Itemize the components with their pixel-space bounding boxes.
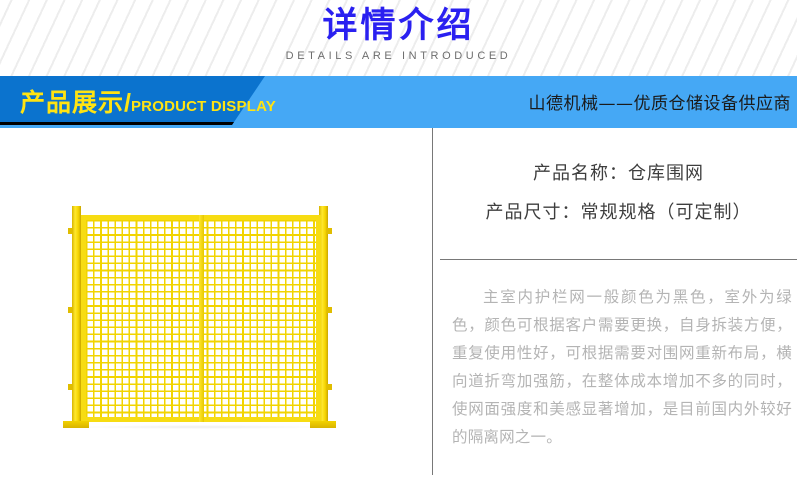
product-display-label-cn: 产品展示 bbox=[20, 88, 124, 117]
post-bracket-icon bbox=[327, 228, 332, 234]
product-display-separator: / bbox=[124, 89, 131, 117]
product-name-line: 产品名称：仓库围网 bbox=[440, 154, 797, 193]
product-description: 主室内护栏网一般颜色为黑色，室外为绿色，颜色可根据客户需要更换，自身拆装方便，重… bbox=[452, 283, 792, 451]
post-bracket-icon bbox=[327, 384, 332, 390]
product-display-bar: 产品展示/PRODUCT DISPLAY 山德机械——优质仓储设备供应商 bbox=[0, 76, 797, 128]
fence-illustration bbox=[61, 206, 339, 446]
post-bracket-icon bbox=[68, 307, 73, 313]
fence-post-left bbox=[72, 206, 81, 424]
product-photo bbox=[0, 128, 432, 503]
header-title-group: 详情介绍 DETAILS ARE INTRODUCED bbox=[0, 6, 797, 64]
page-subtitle: DETAILS ARE INTRODUCED bbox=[0, 48, 797, 64]
content-area: 产品名称：仓库围网 产品尺寸：常规规格（可定制） 主室内护栏网一般颜色为黑色，室… bbox=[0, 128, 797, 503]
fence-center-rail bbox=[199, 215, 204, 422]
product-size-line: 产品尺寸：常规规格（可定制） bbox=[440, 193, 797, 232]
post-bracket-icon bbox=[327, 307, 332, 313]
post-bracket-icon bbox=[68, 384, 73, 390]
product-display-label-en: PRODUCT DISPLAY bbox=[131, 98, 276, 115]
post-bracket-icon bbox=[68, 228, 73, 234]
company-slogan: 山德机械——优质仓储设备供应商 bbox=[529, 89, 792, 114]
product-display-tag-label: 产品展示/PRODUCT DISPLAY bbox=[20, 83, 276, 119]
product-spec-list: 产品名称：仓库围网 产品尺寸：常规规格（可定制） bbox=[440, 154, 797, 232]
vertical-divider bbox=[432, 128, 433, 475]
fence-shadow bbox=[71, 425, 331, 429]
page-title: 详情介绍 bbox=[0, 6, 797, 46]
horizontal-divider bbox=[440, 259, 797, 260]
page-header-banner: 详情介绍 DETAILS ARE INTRODUCED bbox=[0, 0, 797, 76]
